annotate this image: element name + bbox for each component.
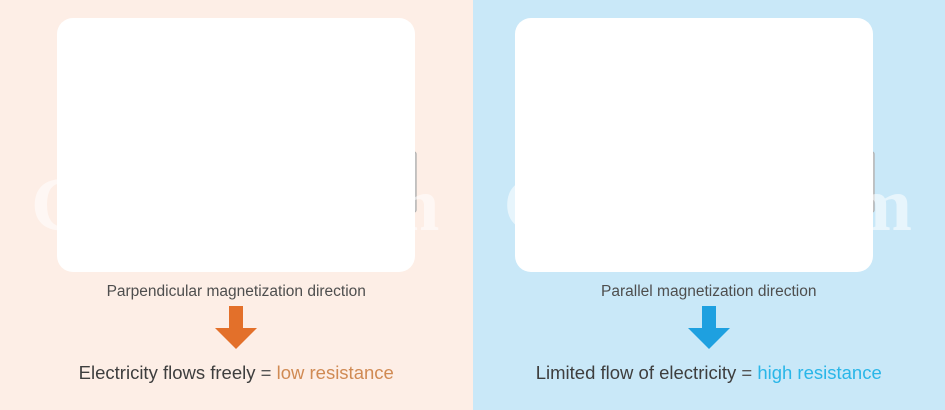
result-prefix-left: Electricity flows freely	[79, 362, 256, 383]
panel-parallel: Goldie Com	[473, 0, 945, 410]
result-prefix-right: Limited flow of electricity	[536, 362, 736, 383]
panel-perpendicular: Goldie Com	[0, 0, 473, 410]
diagram-card-right	[515, 18, 873, 272]
result-left: Electricity flows freely = low resistanc…	[0, 362, 473, 384]
diagram-card-left	[57, 18, 415, 272]
caption-right: Parallel magnetization direction	[473, 283, 945, 301]
comparison-figure: Goldie Com	[0, 0, 945, 410]
result-right: Limited flow of electricity = high resis…	[473, 362, 945, 384]
down-arrow-blue-icon	[686, 306, 732, 350]
down-arrow-orange-icon	[213, 306, 259, 350]
caption-left: Parpendicular magnetization direction	[0, 283, 473, 301]
result-equals-left: =	[261, 362, 272, 383]
result-equals-right: =	[741, 362, 752, 383]
result-highlight-left: low resistance	[277, 362, 394, 383]
result-highlight-right: high resistance	[757, 362, 881, 383]
